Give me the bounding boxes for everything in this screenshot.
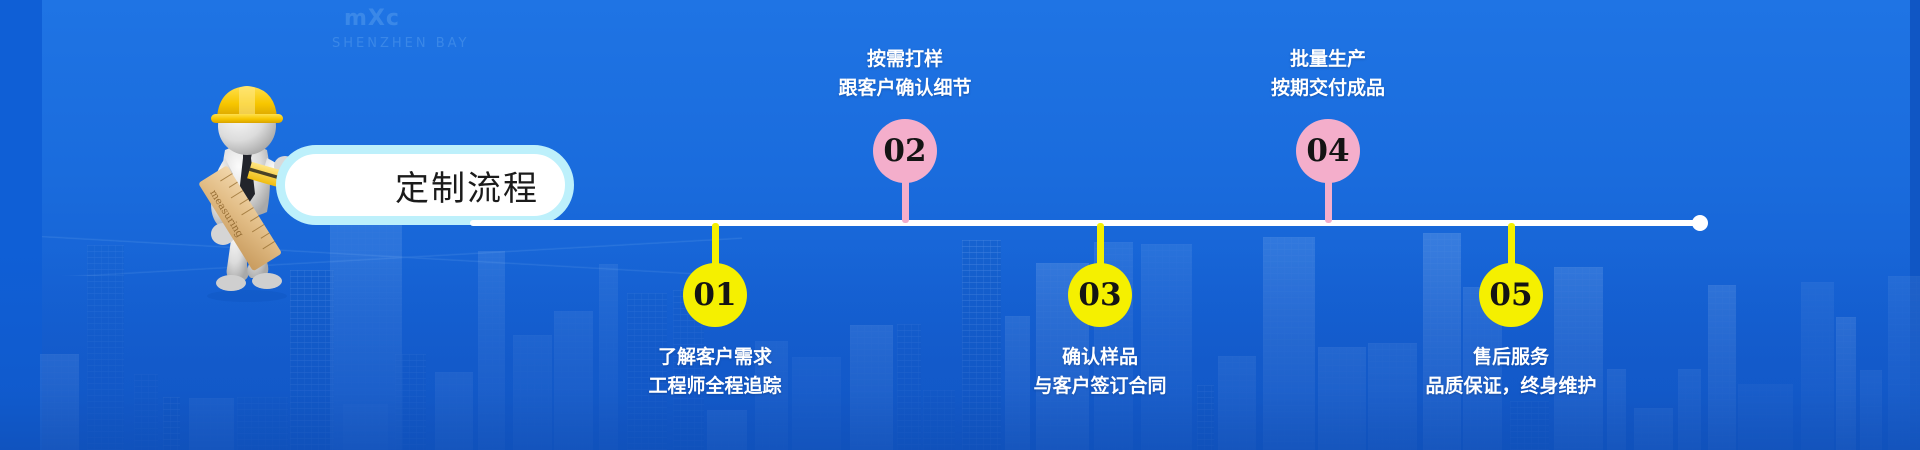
step-caption-line1: 了解客户需求: [515, 343, 915, 372]
photo-watermark-subtitle: SHENZHEN BAY: [332, 36, 469, 51]
step-caption: 了解客户需求工程师全程追踪: [515, 343, 915, 401]
step-number-badge[interactable]: 04: [1296, 119, 1360, 183]
timeline-axis: [470, 220, 1702, 226]
step-caption-line1: 售后服务: [1311, 343, 1711, 372]
step-number-badge[interactable]: 02: [873, 119, 937, 183]
process-title-pill: 定制流程: [276, 145, 574, 225]
step-caption: 售后服务品质保证，终身维护: [1311, 343, 1711, 401]
step-number-label: 03: [1078, 277, 1121, 313]
step-number-label: 01: [693, 277, 736, 313]
step-caption-line1: 批量生产: [1128, 45, 1528, 74]
step-number-label: 05: [1489, 277, 1532, 313]
step-stem: [902, 177, 909, 223]
timeline-end-dot: [1692, 215, 1708, 231]
step-number-badge[interactable]: 01: [683, 263, 747, 327]
step-caption-line2: 工程师全程追踪: [515, 372, 915, 401]
photo-watermark-logo: mXc: [344, 6, 400, 31]
step-caption: 批量生产按期交付成品: [1128, 45, 1528, 103]
step-caption: 按需打样跟客户确认细节: [705, 45, 1105, 103]
step-caption-line2: 品质保证，终身维护: [1311, 372, 1711, 401]
step-number-badge[interactable]: 03: [1068, 263, 1132, 327]
step-caption-line2: 按期交付成品: [1128, 74, 1528, 103]
step-number-label: 04: [1306, 133, 1349, 169]
step-caption-line1: 按需打样: [705, 45, 1105, 74]
step-stem: [1325, 177, 1332, 223]
page-title: 定制流程: [395, 161, 539, 210]
step-caption-line2: 与客户签订合同: [900, 372, 1300, 401]
step-caption-line1: 确认样品: [900, 343, 1300, 372]
step-caption: 确认样品与客户签订合同: [900, 343, 1300, 401]
step-number-label: 02: [883, 133, 926, 169]
step-number-badge[interactable]: 05: [1479, 263, 1543, 327]
step-caption-line2: 跟客户确认细节: [705, 74, 1105, 103]
banner-stage: mXc SHENZHEN BAY: [0, 0, 1920, 450]
